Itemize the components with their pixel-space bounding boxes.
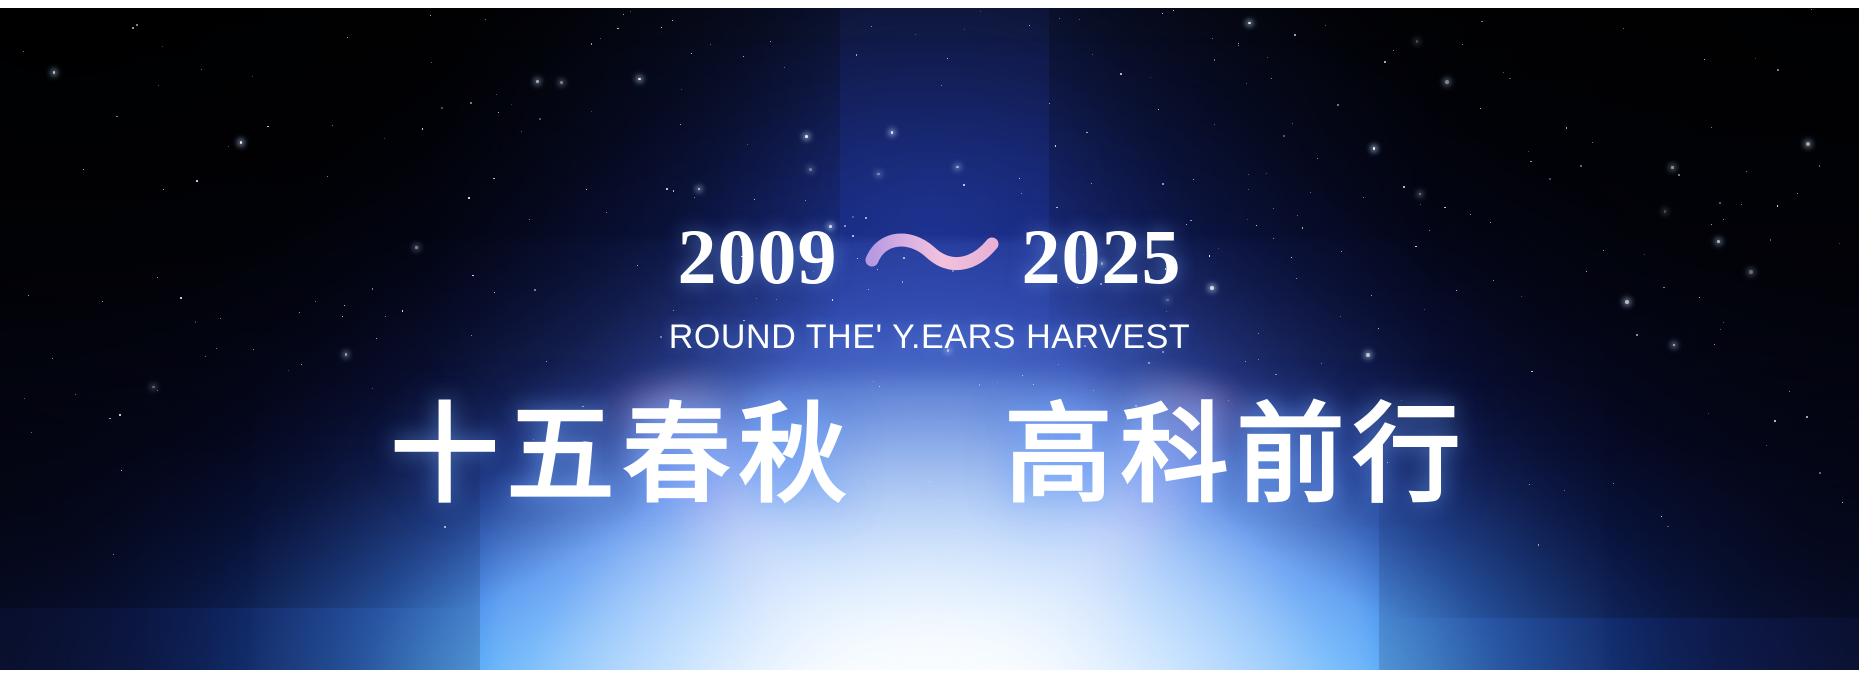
star — [1266, 173, 1268, 175]
star — [1420, 204, 1421, 205]
star — [196, 180, 198, 182]
star — [1566, 127, 1568, 129]
star — [1086, 132, 1088, 134]
star — [468, 197, 470, 199]
star — [1337, 104, 1339, 106]
star — [681, 89, 682, 90]
star — [980, 11, 981, 12]
year-range: 2009 2025 — [0, 218, 1859, 296]
star — [1273, 208, 1274, 209]
star — [83, 169, 84, 170]
star — [116, 116, 118, 118]
star — [342, 316, 343, 317]
star — [180, 297, 182, 299]
star — [1363, 197, 1364, 198]
star — [630, 11, 631, 12]
star — [485, 19, 486, 20]
star — [422, 128, 424, 130]
vignette-top-left — [0, 8, 840, 608]
star — [1592, 142, 1593, 143]
star — [470, 102, 472, 104]
star — [1664, 210, 1667, 213]
subtitle-text: ROUND THE' Y.EARS HARVEST — [0, 318, 1859, 357]
star — [591, 43, 593, 45]
star — [1248, 174, 1249, 175]
star — [493, 178, 495, 180]
star — [1248, 189, 1249, 190]
star — [1271, 78, 1272, 79]
star — [963, 184, 965, 186]
star — [1120, 73, 1122, 75]
star — [384, 138, 385, 139]
star — [53, 71, 56, 74]
slogan-row: 十五春秋 高科前行 — [0, 398, 1859, 515]
wavy-tilde-icon — [864, 224, 1014, 290]
star — [1019, 178, 1020, 179]
star — [102, 301, 103, 302]
year-start: 2009 — [678, 218, 838, 296]
star — [1162, 13, 1163, 14]
star — [1811, 9, 1812, 10]
star — [539, 118, 541, 120]
star — [691, 53, 692, 54]
star — [1373, 147, 1376, 150]
star — [1528, 151, 1529, 152]
star — [1321, 363, 1322, 364]
star — [301, 364, 302, 365]
star — [1481, 21, 1483, 23]
star — [947, 58, 948, 59]
star — [856, 54, 858, 56]
star — [521, 131, 523, 133]
star — [1530, 161, 1532, 163]
star — [240, 141, 243, 144]
star — [1214, 124, 1215, 125]
star — [1755, 58, 1756, 59]
star — [661, 27, 662, 28]
star — [1033, 384, 1034, 385]
star — [1509, 78, 1511, 80]
star — [591, 111, 592, 112]
star — [344, 305, 345, 306]
star — [747, 144, 748, 145]
star — [1162, 183, 1164, 185]
star — [267, 126, 269, 128]
vignette-top-right — [1049, 8, 1859, 618]
star — [136, 24, 138, 26]
slogan-left: 十五春秋 — [390, 398, 854, 515]
star — [979, 384, 981, 386]
star — [1462, 44, 1463, 45]
star — [672, 20, 673, 21]
star — [1325, 25, 1326, 26]
star — [1317, 158, 1319, 160]
star — [805, 200, 806, 201]
star — [754, 199, 755, 200]
star — [1283, 135, 1285, 137]
star — [1711, 127, 1712, 128]
star — [1238, 43, 1239, 44]
star — [546, 361, 547, 362]
star — [1297, 215, 1298, 216]
star — [1777, 69, 1779, 71]
star — [680, 124, 681, 125]
center-nebula-bloom — [180, 48, 1680, 670]
star — [1212, 38, 1213, 39]
top-white-strip — [0, 0, 1859, 8]
star — [1092, 54, 1093, 55]
star — [1058, 364, 1059, 365]
star — [1445, 80, 1449, 84]
star — [1079, 19, 1080, 20]
star — [617, 28, 619, 30]
star — [1384, 61, 1386, 63]
star — [1424, 309, 1425, 310]
star — [1480, 108, 1481, 109]
star — [1021, 193, 1022, 194]
star — [315, 301, 317, 303]
star — [1091, 183, 1092, 184]
star — [1746, 171, 1747, 172]
star — [1245, 361, 1246, 362]
star — [113, 554, 114, 555]
bottom-white-strip — [0, 670, 1859, 680]
star — [1623, 28, 1624, 29]
star — [1267, 57, 1268, 58]
star — [915, 34, 916, 35]
star — [23, 51, 24, 52]
star — [784, 67, 785, 68]
star — [1470, 214, 1471, 215]
star — [1667, 526, 1669, 528]
anniversary-banner: 2009 2025 ROUND THE' Y.EARS HA — [0, 0, 1859, 680]
star — [698, 188, 701, 191]
star — [1789, 391, 1790, 392]
star — [1678, 174, 1680, 176]
star — [879, 386, 880, 387]
star — [1741, 204, 1742, 205]
star — [430, 15, 431, 16]
star — [873, 381, 874, 382]
star — [1580, 165, 1582, 167]
star — [1093, 390, 1094, 391]
star — [673, 190, 675, 192]
star — [1777, 205, 1779, 207]
star — [402, 310, 404, 312]
star — [1059, 18, 1060, 19]
star — [511, 104, 512, 105]
star — [1294, 34, 1296, 36]
star — [606, 212, 607, 213]
star — [158, 85, 159, 86]
star — [52, 358, 53, 359]
star — [332, 125, 333, 126]
star — [673, 310, 674, 311]
star — [228, 146, 229, 147]
star — [743, 56, 744, 57]
star — [1049, 103, 1050, 104]
star — [560, 81, 563, 84]
star — [694, 197, 695, 198]
year-end: 2025 — [1022, 218, 1182, 296]
star — [1704, 59, 1705, 60]
star — [252, 76, 253, 77]
star — [288, 370, 289, 371]
star — [1503, 72, 1504, 73]
star — [163, 189, 164, 190]
star — [536, 80, 539, 83]
star — [1661, 516, 1663, 518]
star — [1148, 362, 1150, 364]
star — [891, 131, 894, 134]
star — [964, 29, 965, 30]
star — [299, 312, 300, 313]
star — [809, 168, 812, 171]
star — [600, 38, 601, 39]
star — [1699, 297, 1700, 298]
star — [75, 394, 76, 395]
star — [201, 69, 203, 71]
star — [1444, 207, 1446, 209]
slogan-right: 高科前行 — [1005, 398, 1469, 515]
star — [444, 526, 446, 528]
star — [1055, 145, 1057, 147]
star — [1531, 371, 1533, 373]
star — [132, 27, 134, 29]
star — [1238, 45, 1239, 46]
star — [997, 382, 998, 383]
star — [1022, 375, 1023, 376]
star — [805, 135, 808, 138]
star — [1275, 374, 1277, 376]
star — [1246, 83, 1247, 84]
star — [1193, 179, 1194, 180]
star — [1056, 207, 1058, 209]
star — [1258, 359, 1259, 360]
star — [496, 94, 497, 95]
star — [1158, 109, 1159, 110]
star — [327, 176, 328, 177]
star — [877, 173, 880, 176]
star — [1403, 186, 1405, 188]
star — [666, 188, 668, 190]
star — [1393, 50, 1394, 51]
star — [638, 78, 641, 81]
star — [770, 41, 771, 42]
star — [1248, 22, 1251, 25]
star — [623, 14, 624, 15]
star — [372, 388, 373, 389]
star — [1538, 544, 1540, 546]
star — [1416, 40, 1419, 43]
star — [1419, 193, 1422, 196]
star — [1671, 166, 1674, 169]
star — [1292, 123, 1293, 124]
star — [941, 85, 942, 86]
star — [441, 107, 443, 109]
star — [162, 46, 163, 47]
star — [956, 166, 959, 169]
star — [1166, 311, 1167, 312]
star — [431, 62, 432, 63]
star — [1310, 192, 1312, 194]
star — [157, 390, 158, 391]
star — [710, 44, 711, 45]
star — [1819, 165, 1821, 167]
star — [1150, 77, 1151, 78]
star — [1214, 59, 1216, 61]
star — [1625, 300, 1629, 304]
star — [152, 386, 155, 389]
star — [1029, 25, 1030, 26]
star — [347, 37, 348, 38]
star — [1173, 10, 1174, 11]
star — [498, 112, 499, 113]
star — [871, 26, 872, 27]
star — [1797, 193, 1798, 194]
star — [1719, 202, 1721, 204]
star — [1549, 178, 1551, 180]
star — [385, 316, 386, 317]
star — [586, 189, 587, 190]
star — [1806, 142, 1810, 146]
